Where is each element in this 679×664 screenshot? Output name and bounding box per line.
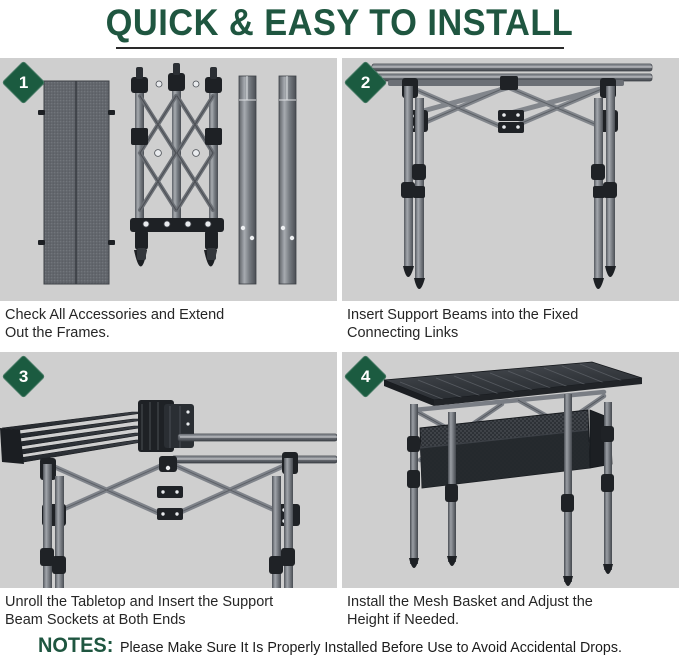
notes-text: Please Make Sure It Is Properly Installe…: [120, 639, 622, 656]
step-caption-2: Insert Support Beams into the Fixed Conn…: [342, 301, 679, 352]
illustration-expanded-frame: [342, 58, 679, 301]
notes-row: NOTES: Please Make Sure It Is Properly I…: [0, 634, 679, 658]
step-image-1: 1: [0, 58, 337, 301]
support-beams-installed: [172, 434, 337, 463]
step-cell-3: 3 Unroll the Tabletop and Insert the Sup…: [0, 352, 337, 639]
title-block: QUICK & EASY TO INSTALL: [0, 0, 679, 49]
page-title: QUICK & EASY TO INSTALL: [24, 2, 655, 44]
step-cell-4: 4 Install the Mesh Basket and Adjust the…: [342, 352, 679, 639]
step-cell-1: 1 Check All Accessories and Extend Out t…: [0, 58, 337, 352]
illustration-unrolling-tabletop: [0, 352, 337, 588]
support-beam-parts: [239, 76, 296, 284]
step-caption-3: Unroll the Tabletop and Insert the Suppo…: [0, 588, 337, 639]
step-caption-1: Check All Accessories and Extend Out the…: [0, 301, 337, 352]
steps-grid: 1 Check All Accessories and Extend Out t…: [0, 58, 679, 639]
step-image-2: 2: [342, 58, 679, 301]
title-divider: [116, 47, 564, 49]
step-image-3: 3: [0, 352, 337, 588]
illustration-finished-table: [342, 352, 679, 588]
illustration-folded-parts: [0, 58, 337, 301]
instruction-sheet: QUICK & EASY TO INSTALL: [0, 0, 679, 664]
unrolled-tabletop-slats: [2, 412, 154, 462]
step-caption-4: Install the Mesh Basket and Adjust the H…: [342, 588, 679, 639]
folded-frame-part: [130, 63, 224, 267]
notes-label: NOTES:: [38, 634, 113, 658]
step-image-4: 4: [342, 352, 679, 588]
rolled-tabletop-part: [38, 81, 115, 284]
step-number-4: 4: [361, 368, 370, 385]
step-number-3: 3: [19, 368, 28, 385]
rolled-tabletop-remainder: [138, 400, 194, 452]
step-number-1: 1: [19, 74, 28, 91]
step-cell-2: 2 Insert Support Beams into the Fixed Co…: [342, 58, 679, 352]
step-number-2: 2: [361, 74, 370, 91]
